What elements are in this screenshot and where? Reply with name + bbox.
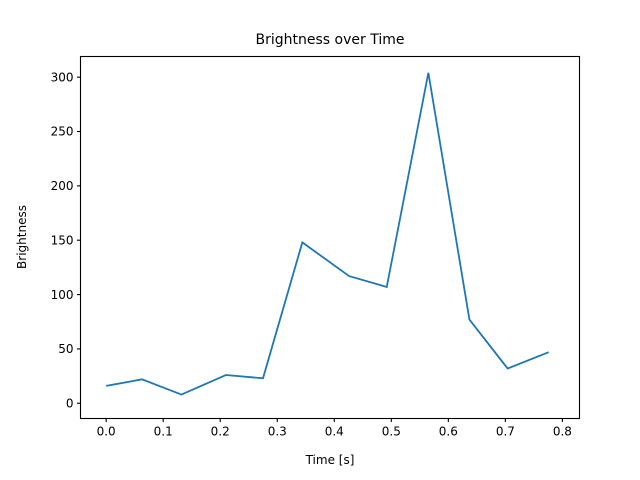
x-tick-label: 0.4: [325, 425, 344, 439]
matplotlib-figure: Brightness over Time 0.00.10.20.30.40.50…: [0, 0, 640, 480]
y-tick-label: 150: [51, 233, 74, 247]
x-tick-label: 0.8: [553, 425, 572, 439]
x-tick-label: 0.6: [439, 425, 458, 439]
y-tick-label: 250: [51, 125, 74, 139]
series-line-brightness: [106, 73, 549, 395]
x-tick-label: 0.0: [97, 425, 116, 439]
chart-title: Brightness over Time: [256, 32, 405, 48]
data-series-group: [106, 73, 549, 395]
x-axis-ticks: 0.00.10.20.30.40.50.60.70.8: [97, 419, 572, 439]
x-axis-title: Time [s]: [305, 453, 355, 467]
x-tick-label: 0.5: [382, 425, 401, 439]
x-tick-label: 0.2: [211, 425, 230, 439]
x-tick-label: 0.7: [496, 425, 515, 439]
y-tick-label: 200: [51, 179, 74, 193]
y-tick-label: 100: [51, 288, 74, 302]
line-chart: Brightness over Time 0.00.10.20.30.40.50…: [0, 0, 640, 480]
y-tick-label: 0: [66, 396, 74, 410]
y-axis-ticks: 050100150200250300: [51, 70, 81, 410]
x-tick-label: 0.1: [154, 425, 173, 439]
y-axis-title: Brightness: [15, 205, 29, 269]
y-tick-label: 300: [51, 70, 74, 84]
y-tick-label: 50: [58, 342, 73, 356]
x-tick-label: 0.3: [268, 425, 287, 439]
